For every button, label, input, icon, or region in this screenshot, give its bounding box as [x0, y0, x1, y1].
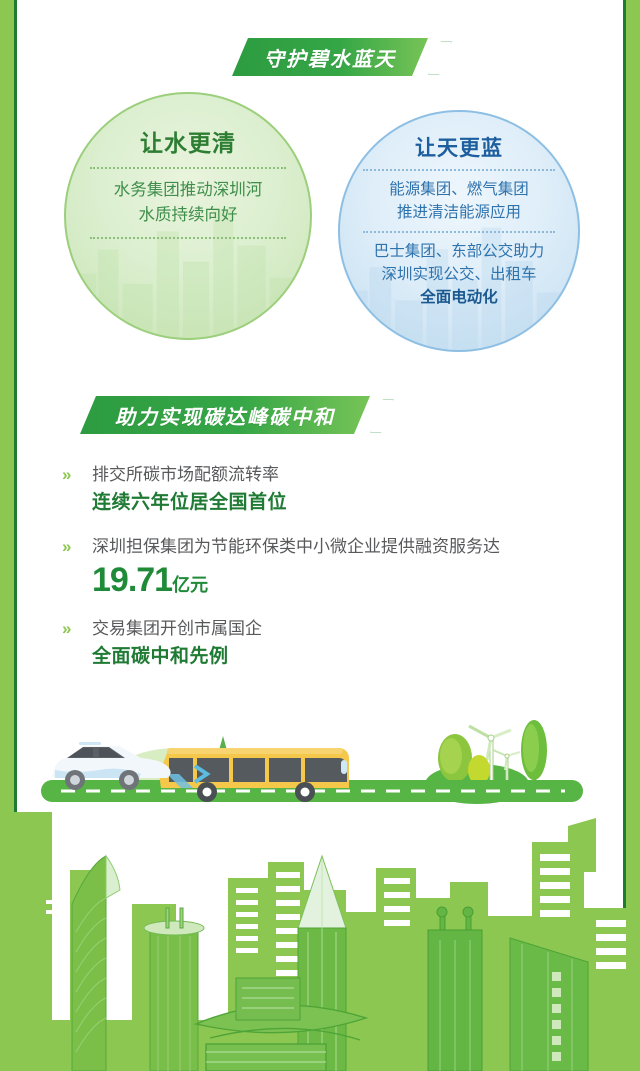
list-item-number: 19.71	[92, 561, 172, 599]
bubble-sky-s2-line-1: 巴士集团、东部公交助力	[374, 240, 545, 263]
banner-middle-accent	[370, 399, 394, 433]
list-item: » 排交所碳市场配额流转率 连续六年位居全国首位	[62, 462, 532, 518]
infographic-page: 守护碧水蓝天 让水更清 水务集团推动深圳河 水质持续向好	[0, 0, 640, 1071]
bubble-water-divider-bottom	[90, 237, 286, 239]
bubble-water-content: 让水更清 水务集团推动深圳河 水质持续向好	[66, 94, 310, 338]
bubble-sky-divider-top	[363, 169, 555, 171]
bubble-sky-content: 让天更蓝 能源集团、燃气集团 推进清洁能源应用 巴士集团、东部公交助力 深圳实现…	[340, 112, 578, 350]
achievement-list: » 排交所碳市场配额流转率 连续六年位居全国首位 » 深圳担保集团为节能环保类中…	[62, 462, 532, 688]
list-item-lead: 交易集团开创市属国企	[92, 616, 532, 642]
list-item-highlight: 连续六年位居全国首位	[92, 488, 532, 518]
bubble-water-line-2: 水质持续向好	[114, 203, 263, 228]
list-item-stat: 19.71亿元	[92, 560, 532, 600]
landmark-twin-tower-icon	[428, 907, 482, 1071]
landmark-diwang-icon	[144, 908, 204, 1071]
bubble-sky-section-1: 能源集团、燃气集团 推进清洁能源应用	[389, 178, 529, 224]
transport-illustration	[17, 700, 623, 825]
bubble-sky-s1-line-2: 推进清洁能源应用	[389, 201, 529, 224]
list-item-lead: 排交所碳市场配额流转率	[92, 462, 532, 488]
bubble-sky-title: 让天更蓝	[415, 132, 503, 162]
bubble-sky-divider-mid	[363, 231, 555, 233]
list-item-lead: 深圳担保集团为节能环保类中小微企业提供融资服务达	[92, 534, 532, 560]
list-item-unit: 亿元	[172, 575, 208, 595]
chevron-double-right-icon: »	[62, 619, 71, 639]
bubble-water-body: 水务集团推动深圳河 水质持续向好	[114, 178, 263, 228]
banner-top-accent	[428, 41, 452, 75]
bubble-sky-section-2: 巴士集团、东部公交助力 深圳实现公交、出租车 全面电动化	[374, 240, 545, 309]
list-item: » 交易集团开创市属国企 全面碳中和先例	[62, 616, 532, 672]
landmark-civic-center-icon	[236, 978, 300, 1020]
chevron-double-right-icon: »	[62, 465, 71, 485]
list-item: » 深圳担保集团为节能环保类中小微企业提供融资服务达 19.71亿元	[62, 534, 532, 600]
bubble-sky-s1-line-1: 能源集团、燃气集团	[389, 178, 529, 201]
banner-top: 守护碧水蓝天	[232, 38, 428, 76]
bubble-water-line-1: 水务集团推动深圳河	[114, 178, 263, 203]
bubble-sky-s2-strong: 全面电动化	[374, 286, 545, 309]
bubble-water: 让水更清 水务集团推动深圳河 水质持续向好	[64, 92, 312, 340]
bubble-sky: 让天更蓝 能源集团、燃气集团 推进清洁能源应用 巴士集团、东部公交助力 深圳实现…	[338, 110, 580, 352]
landmark-pingan-icon	[298, 856, 346, 1071]
bubble-water-title: 让水更清	[140, 124, 236, 158]
city-skyline	[0, 812, 640, 1071]
banner-middle: 助力实现碳达峰碳中和	[80, 396, 370, 434]
banner-middle-label: 助力实现碳达峰碳中和	[80, 396, 370, 434]
banner-top-label: 守护碧水蓝天	[232, 38, 428, 76]
chevron-double-right-icon: »	[62, 537, 71, 557]
list-item-highlight: 全面碳中和先例	[92, 642, 532, 672]
bubble-water-divider-top	[90, 167, 286, 169]
landmark-block-tower-icon	[510, 938, 588, 1071]
bubble-sky-s2-line-2: 深圳实现公交、出租车	[374, 263, 545, 286]
